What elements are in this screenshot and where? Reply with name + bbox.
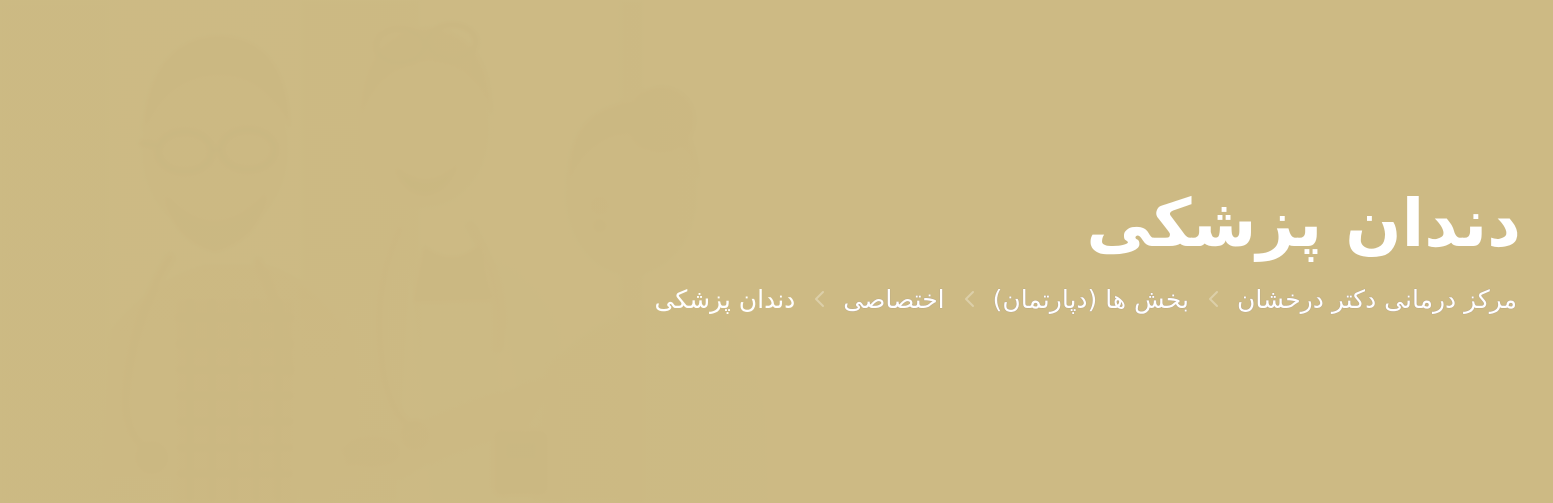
breadcrumb-item-home[interactable]: مرکز درمانی دکتر درخشان [1233,281,1521,319]
breadcrumb-item-departments[interactable]: بخش ها (دپارتمان) [989,281,1193,319]
page-hero-banner: دندان پزشکی مرکز درمانی دکتر درخشان بخش … [0,0,1553,503]
page-title: دندان پزشکی [0,185,1525,263]
chevron-left-icon [799,287,839,311]
hero-content: دندان پزشکی مرکز درمانی دکتر درخشان بخش … [0,0,1553,503]
breadcrumb-item-specialized[interactable]: اختصاصی [839,281,948,319]
breadcrumb: مرکز درمانی دکتر درخشان بخش ها (دپارتمان… [0,281,1525,319]
breadcrumb-item-current: دندان پزشکی [650,281,799,319]
chevron-left-icon [1193,287,1233,311]
chevron-left-icon [949,287,989,311]
